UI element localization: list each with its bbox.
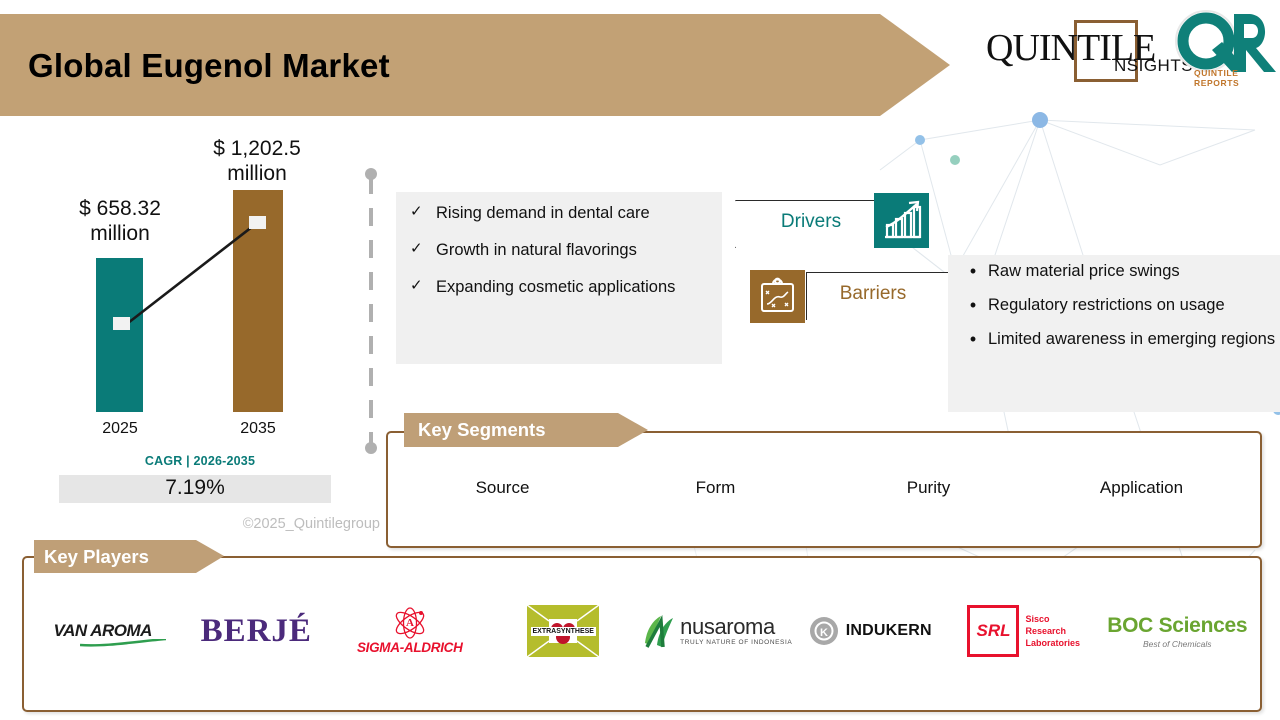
list-item: ✓ Growth in natural flavorings bbox=[410, 239, 715, 261]
check-icon: ✓ bbox=[410, 239, 436, 261]
driver-text: Expanding cosmetic applications bbox=[436, 276, 675, 298]
drivers-list: ✓ Rising demand in dental care ✓ Growth … bbox=[410, 202, 715, 313]
segment-source: Source bbox=[396, 478, 609, 498]
svg-text:K: K bbox=[820, 627, 828, 639]
logo-boc-sciences[interactable]: BOC Sciences Best of Chemicals bbox=[1101, 596, 1255, 666]
check-icon: ✓ bbox=[410, 202, 436, 224]
berje-text: BERJÉ bbox=[201, 613, 312, 650]
key-players-tab-label: Key Players bbox=[44, 546, 149, 568]
logo-nusaroma[interactable]: nusaroma TRULY NATURE OF INDONESIA bbox=[640, 596, 794, 666]
srl-line2: Research bbox=[1025, 625, 1080, 637]
van-aroma-text: VAN AROMA bbox=[54, 621, 152, 640]
list-item: • Raw material price swings bbox=[958, 260, 1278, 282]
trend-line bbox=[0, 130, 350, 430]
key-segments-items: Source Form Purity Application bbox=[396, 478, 1248, 498]
bullet-icon: • bbox=[958, 260, 988, 282]
logo-berje[interactable]: BERJÉ bbox=[180, 596, 334, 666]
segment-application: Application bbox=[1035, 478, 1248, 498]
list-item: ✓ Expanding cosmetic applications bbox=[410, 276, 715, 298]
srl-mark-icon: SRL bbox=[967, 605, 1019, 657]
barriers-list: • Raw material price swings • Regulatory… bbox=[958, 260, 1278, 362]
logo-srl[interactable]: SRL Sisco Research Laboratories bbox=[947, 596, 1101, 666]
cagr-value: 7.19% bbox=[59, 476, 331, 500]
logo-van-aroma[interactable]: VAN AROMA bbox=[26, 596, 180, 666]
nusaroma-text: nusaroma bbox=[680, 616, 792, 638]
infographic-canvas: Global Eugenol Market QUINTILE NSIGHTS Q… bbox=[0, 0, 1280, 720]
boc-sciences-tagline: Best of Chemicals bbox=[1107, 639, 1247, 649]
atom-icon: A bbox=[390, 607, 430, 639]
key-segments-tab-label: Key Segments bbox=[418, 419, 546, 441]
cagr-label: CAGR | 2026-2035 bbox=[55, 454, 345, 468]
van-aroma-swoosh-icon bbox=[80, 639, 166, 647]
axis-label-2025: 2025 bbox=[70, 420, 170, 438]
bullet-icon: • bbox=[958, 328, 988, 350]
axis-label-2035: 2035 bbox=[208, 420, 308, 438]
bullet-icon: • bbox=[958, 294, 988, 316]
page-title: Global Eugenol Market bbox=[28, 47, 390, 85]
srl-line3: Laboratories bbox=[1025, 637, 1080, 649]
logo-indukern[interactable]: K INDUKERN bbox=[794, 596, 948, 666]
copyright-text: ©2025_Quintilegroup bbox=[120, 516, 380, 532]
barriers-banner-label: Barriers bbox=[812, 283, 934, 305]
segment-form: Form bbox=[609, 478, 822, 498]
srl-initials: SRL bbox=[976, 621, 1010, 641]
barrier-text: Limited awareness in emerging regions bbox=[988, 328, 1275, 350]
vertical-dashed-divider bbox=[358, 168, 384, 454]
check-icon: ✓ bbox=[410, 276, 436, 298]
segment-purity: Purity bbox=[822, 478, 1035, 498]
srl-line1: Sisco bbox=[1025, 613, 1080, 625]
indukern-mark-icon: K bbox=[809, 616, 839, 646]
svg-text:A: A bbox=[406, 617, 414, 629]
key-players-logos: VAN AROMA BERJÉ A SIG bbox=[26, 596, 1254, 666]
list-item: • Regulatory restrictions on usage bbox=[958, 294, 1278, 316]
indukern-text: INDUKERN bbox=[846, 622, 932, 640]
qr-mark-caption: QUINTILE REPORTS bbox=[1194, 68, 1276, 88]
list-item: • Limited awareness in emerging regions bbox=[958, 328, 1278, 350]
extrasynthese-text: EXTRASYNTHESE bbox=[531, 627, 596, 636]
nusaroma-tagline: TRULY NATURE OF INDONESIA bbox=[680, 640, 792, 647]
driver-text: Growth in natural flavorings bbox=[436, 239, 637, 261]
srl-name-block: Sisco Research Laboratories bbox=[1025, 613, 1080, 649]
barrier-text: Regulatory restrictions on usage bbox=[988, 294, 1225, 316]
driver-text: Rising demand in dental care bbox=[436, 202, 650, 224]
barrier-text: Raw material price swings bbox=[988, 260, 1180, 282]
nusaroma-leaf-icon bbox=[641, 613, 675, 649]
growth-chart-icon bbox=[874, 193, 929, 248]
brand-logo[interactable]: QUINTILE NSIGHTS QUINTILE REPORTS bbox=[986, 6, 1276, 88]
list-item: ✓ Rising demand in dental care bbox=[410, 202, 715, 224]
logo-sigma-aldrich[interactable]: A SIGMA-ALDRICH bbox=[333, 596, 487, 666]
sigma-aldrich-text: SIGMA-ALDRICH bbox=[357, 640, 463, 655]
strategy-board-icon bbox=[750, 270, 805, 323]
drivers-banner-label: Drivers bbox=[746, 211, 876, 233]
boc-sciences-text: BOC Sciences bbox=[1107, 614, 1247, 638]
logo-extrasynthese[interactable]: EXTRASYNTHESE bbox=[487, 596, 641, 666]
